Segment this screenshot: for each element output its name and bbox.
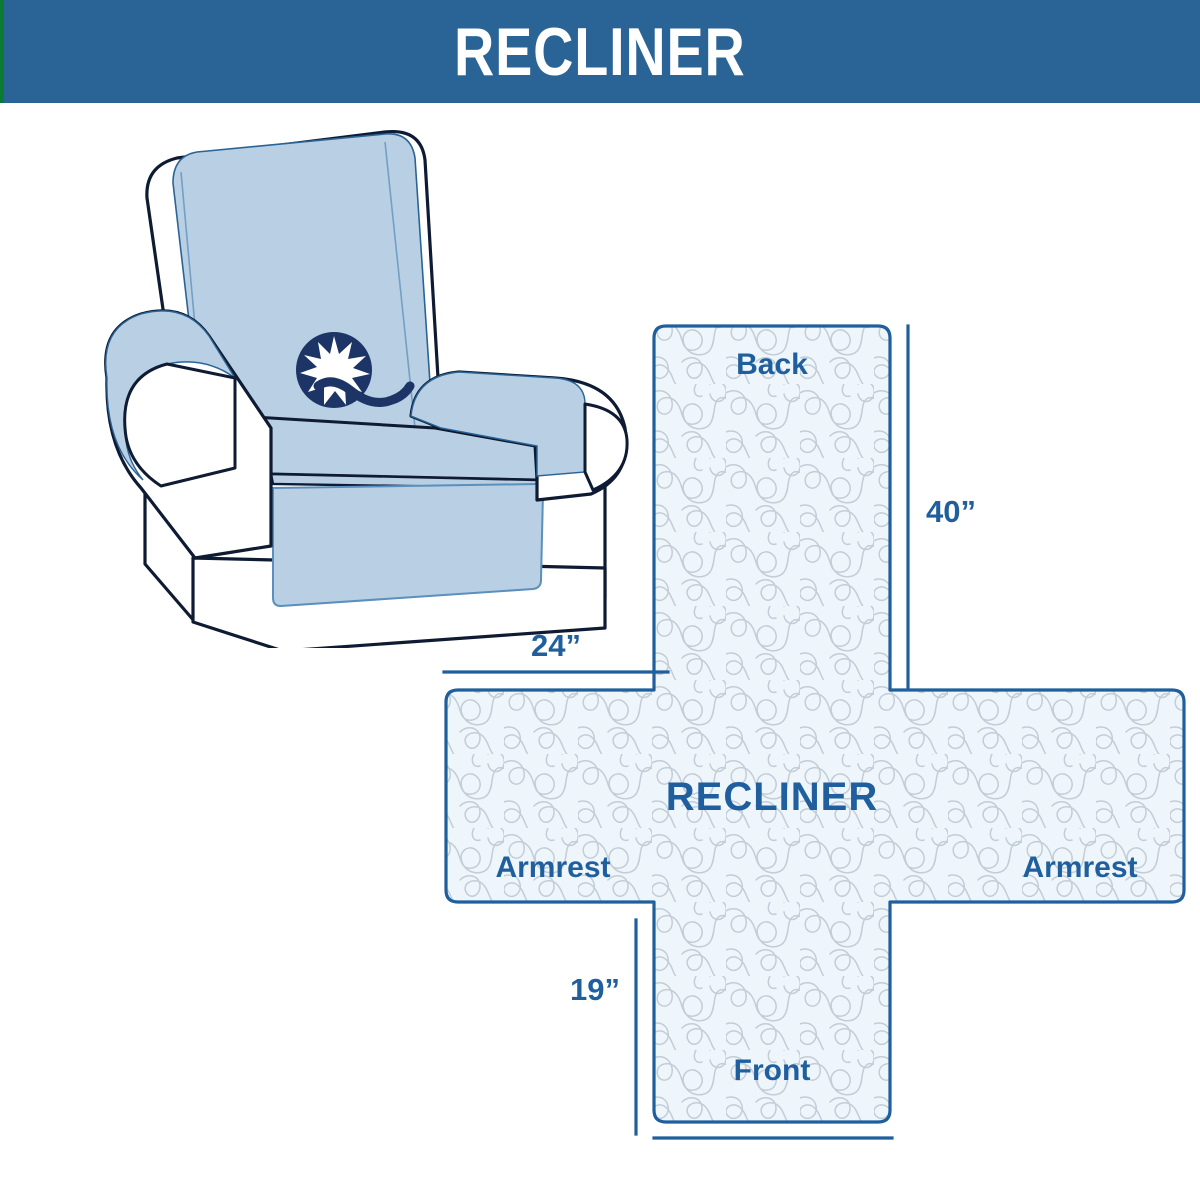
panel-label-center: RECLINER	[666, 775, 878, 819]
panel-label-armrest-right: Armrest	[1022, 851, 1137, 884]
header-accent-stripe	[0, 0, 4, 103]
header-banner: RECLINER	[0, 0, 1200, 103]
dimension-value-front-height: 19”	[570, 972, 620, 1007]
product-dimension-infographic: RECLINER	[0, 0, 1200, 1200]
panel-label-armrest-left: Armrest	[495, 851, 610, 884]
cover-cross-shape	[430, 310, 1200, 1140]
panel-label-front: Front	[734, 1054, 811, 1087]
dimension-value-back-height: 40”	[926, 494, 976, 529]
cover-pattern-diagram: Back RECLINER Armrest Armrest Front 40” …	[430, 310, 1200, 1140]
page-title: RECLINER	[454, 18, 746, 86]
panel-label-back: Back	[736, 348, 808, 381]
dimension-value-armrest-left-width: 24”	[531, 628, 581, 663]
